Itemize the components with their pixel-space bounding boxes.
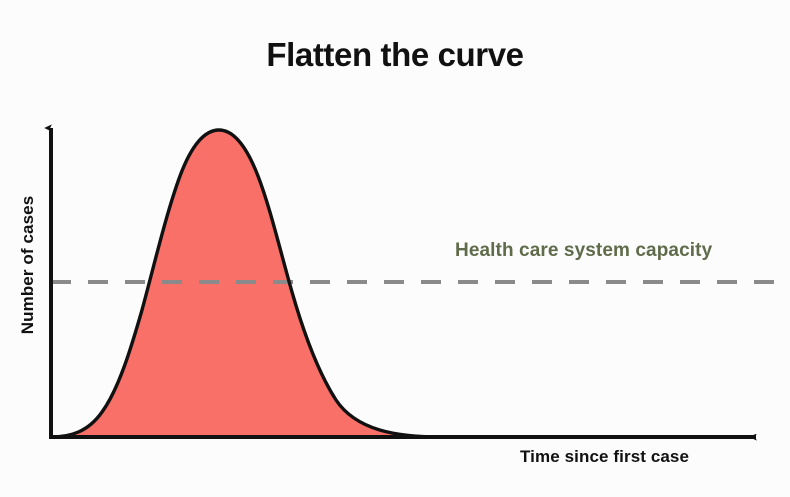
x-axis-label: Time since first case <box>520 447 689 467</box>
y-axis-label: Number of cases <box>18 165 38 365</box>
chart-canvas: Flatten the curve Number of cases Time s… <box>0 0 790 497</box>
healthcare-capacity-label: Health care system capacity <box>455 240 712 262</box>
page-title: Flatten the curve <box>0 36 790 74</box>
